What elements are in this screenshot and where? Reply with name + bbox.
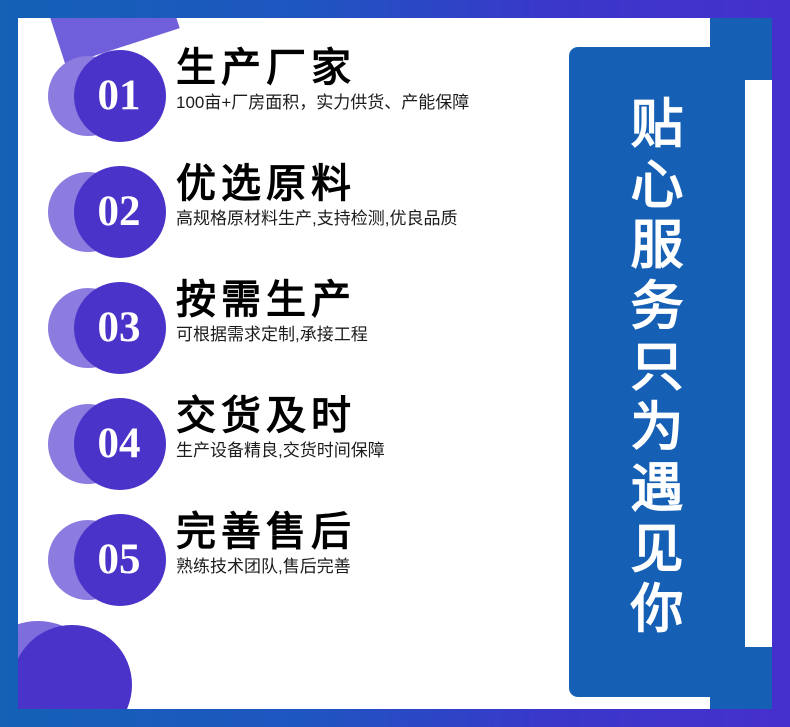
badge-front-circle-icon: 03 (74, 282, 166, 374)
badge-number: 05 (98, 538, 141, 581)
feature-text-block: 交货及时 生产设备精良,交货时间保障 (176, 394, 546, 461)
side-slogan-text: 贴 心 服 务 只 为 遇 见 你 (569, 95, 745, 641)
promo-banner: 01 生产厂家 100亩+厂房面积，实力供货、产能保障 02 优选原料 (0, 0, 790, 727)
decorative-dark-purple-circle-bottom-left (18, 625, 132, 709)
number-badge-03: 03 (48, 282, 156, 374)
feature-title: 生产厂家 (176, 46, 546, 90)
feature-item-03: 03 按需生产 可根据需求定制,承接工程 (26, 274, 546, 390)
slogan-char: 贴 (631, 95, 684, 156)
badge-front-circle-icon: 04 (74, 398, 166, 490)
badge-number: 01 (98, 74, 141, 117)
feature-title: 按需生产 (176, 278, 546, 322)
number-badge-01: 01 (48, 50, 156, 142)
feature-text-block: 完善售后 熟练技术团队,售后完善 (176, 510, 546, 577)
feature-list: 01 生产厂家 100亩+厂房面积，实力供货、产能保障 02 优选原料 (26, 42, 546, 622)
badge-front-circle-icon: 02 (74, 166, 166, 258)
feature-title: 优选原料 (176, 162, 546, 206)
slogan-char: 只 (631, 338, 684, 399)
feature-text-block: 生产厂家 100亩+厂房面积，实力供货、产能保障 (176, 46, 546, 113)
slogan-char: 见 (631, 520, 684, 581)
feature-title: 完善售后 (176, 510, 546, 554)
badge-front-circle-icon: 01 (74, 50, 166, 142)
feature-item-04: 04 交货及时 生产设备精良,交货时间保障 (26, 390, 546, 506)
feature-subtitle: 生产设备精良,交货时间保障 (176, 441, 546, 461)
slogan-char: 你 (631, 580, 684, 641)
badge-number: 04 (98, 422, 141, 465)
slogan-char: 心 (631, 156, 684, 217)
feature-subtitle: 可根据需求定制,承接工程 (176, 325, 546, 345)
feature-text-block: 优选原料 高规格原材料生产,支持检测,优良品质 (176, 162, 546, 229)
decorative-light-purple-circle-bottom-left (18, 621, 102, 709)
feature-item-05: 05 完善售后 熟练技术团队,售后完善 (26, 506, 546, 622)
feature-subtitle: 高规格原材料生产,支持检测,优良品质 (176, 209, 546, 229)
slogan-char: 务 (631, 277, 684, 338)
feature-item-02: 02 优选原料 高规格原材料生产,支持检测,优良品质 (26, 158, 546, 274)
banner-canvas: 01 生产厂家 100亩+厂房面积，实力供货、产能保障 02 优选原料 (18, 18, 772, 709)
feature-subtitle: 100亩+厂房面积，实力供货、产能保障 (176, 93, 546, 113)
slogan-char: 为 (631, 398, 684, 459)
feature-title: 交货及时 (176, 394, 546, 438)
feature-subtitle: 熟练技术团队,售后完善 (176, 557, 546, 577)
slogan-char: 遇 (631, 459, 684, 520)
feature-item-01: 01 生产厂家 100亩+厂房面积，实力供货、产能保障 (26, 42, 546, 158)
number-badge-05: 05 (48, 514, 156, 606)
number-badge-02: 02 (48, 166, 156, 258)
number-badge-04: 04 (48, 398, 156, 490)
slogan-char: 服 (631, 216, 684, 277)
feature-text-block: 按需生产 可根据需求定制,承接工程 (176, 278, 546, 345)
badge-number: 02 (98, 190, 141, 233)
side-slogan-panel: 贴 心 服 务 只 为 遇 见 你 (569, 47, 745, 697)
badge-number: 03 (98, 306, 141, 349)
badge-front-circle-icon: 05 (74, 514, 166, 606)
